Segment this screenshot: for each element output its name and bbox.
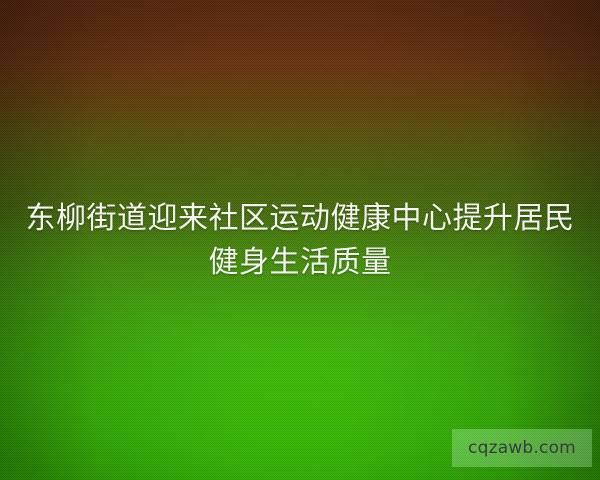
cover-image-canvas: 东柳街道迎来社区运动健康中心提升居民健身生活质量 cqzawb.com	[0, 0, 600, 480]
watermark-label: cqzawb.com	[468, 440, 576, 457]
watermark-badge: cqzawb.com	[452, 429, 592, 467]
headline-text: 东柳街道迎来社区运动健康中心提升居民健身生活质量	[0, 197, 600, 285]
